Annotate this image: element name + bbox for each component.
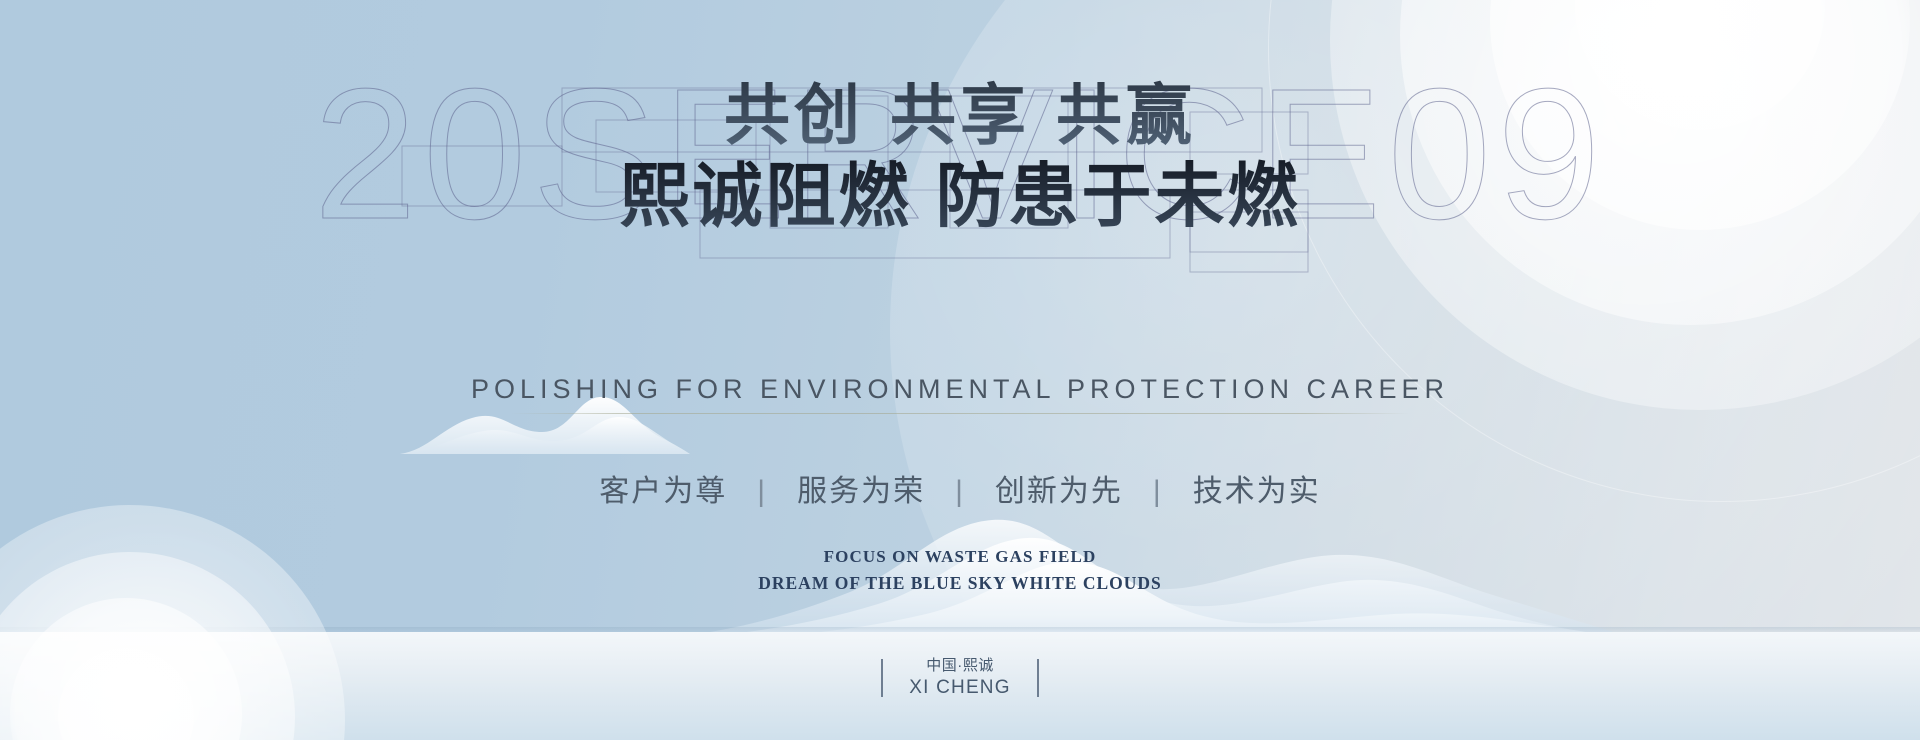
footer-logo: 中国·熙诚 XI CHENG xyxy=(0,656,1920,700)
headline-line-2: 熙诚阻燃防患于未燃 xyxy=(0,158,1920,238)
promotional-banner: 20SERVICE09 共创共享共赢 熙诚阻燃防患于未燃 POLISHING F… xyxy=(0,0,1920,740)
headline-phrase-2: 防患于未燃 xyxy=(936,159,1301,236)
headline-line-1: 共创共享共赢 xyxy=(0,80,1920,154)
footer-divider-right xyxy=(1037,659,1039,697)
english-tagline: POLISHING FOR ENVIRONMENTAL PROTECTION C… xyxy=(0,374,1920,414)
headline-word-3: 共赢 xyxy=(1056,80,1196,153)
footer-logo-chinese: 中国·熙诚 xyxy=(909,656,1010,676)
footer-logo-text: 中国·熙诚 XI CHENG xyxy=(909,656,1010,700)
headline: 共创共享共赢 熙诚阻燃防患于未燃 xyxy=(0,80,1920,238)
sub-slogan-line-1: FOCUS ON WASTE GAS FIELD xyxy=(0,544,1920,570)
footer-logo-english: XI CHENG xyxy=(909,676,1010,701)
footer-divider-left xyxy=(881,659,883,697)
headline-phrase-1: 熙诚阻燃 xyxy=(620,159,912,236)
sub-slogan: FOCUS ON WASTE GAS FIELD DREAM OF THE BL… xyxy=(0,544,1920,597)
headline-word-1: 共创 xyxy=(724,80,864,153)
sub-slogan-line-2: DREAM OF THE BLUE SKY WHITE CLOUDS xyxy=(0,570,1920,597)
headline-word-2: 共享 xyxy=(890,80,1030,153)
tagline-text: POLISHING FOR ENVIRONMENTAL PROTECTION C… xyxy=(471,374,1449,404)
tagline-underline xyxy=(510,413,1410,414)
